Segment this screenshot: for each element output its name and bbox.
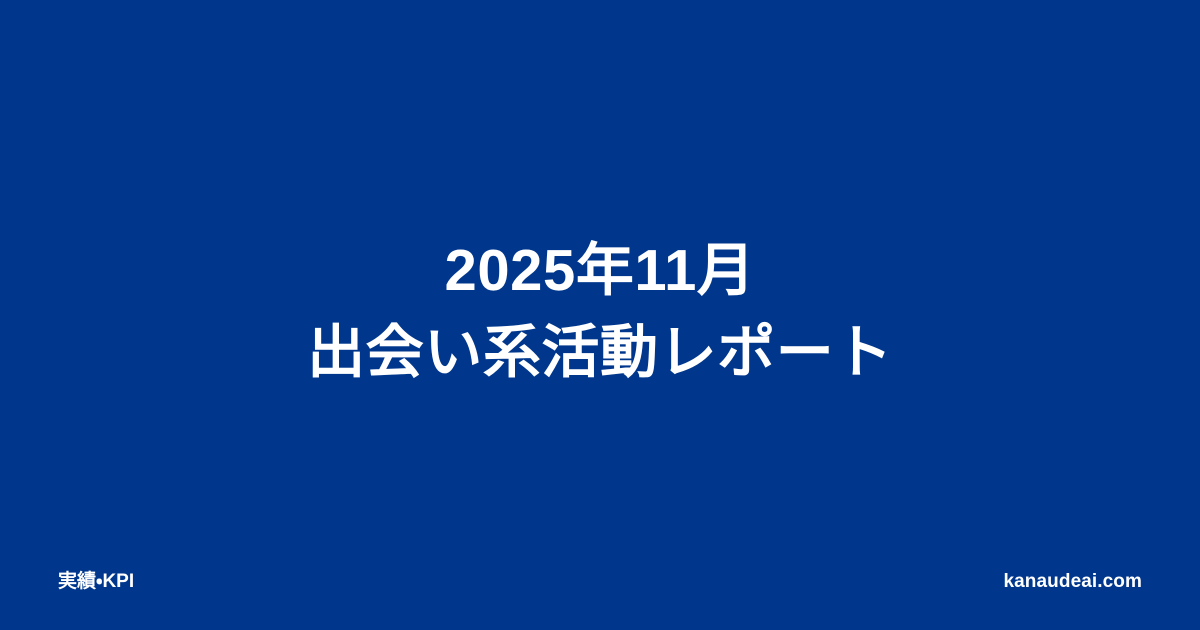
footer-category-label: 実績・KPI [58, 571, 134, 594]
footer-domain: kanaudeai.com [1003, 571, 1142, 594]
page-title: 2025年11月 出会い系活動レポート [58, 230, 1142, 395]
title-line-period: 2025年11月 [445, 230, 756, 312]
title-line-subject: 出会い系活動レポート [307, 312, 893, 394]
og-card: 2025年11月 出会い系活動レポート 実績・KPI kanaudeai.com [0, 0, 1200, 630]
footer: 実績・KPI kanaudeai.com [58, 571, 1142, 594]
